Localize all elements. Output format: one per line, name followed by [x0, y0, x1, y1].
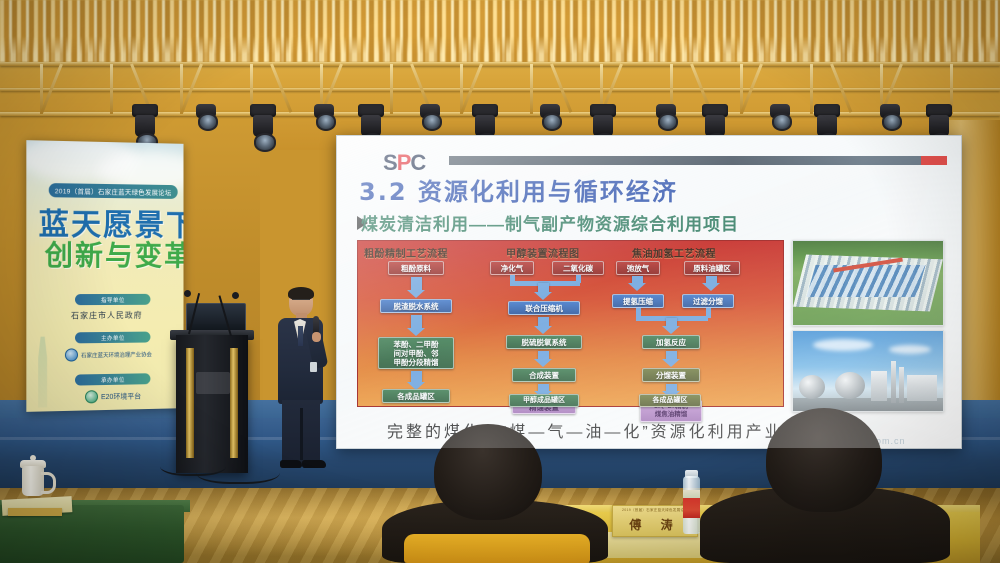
name-card-name: 傅 涛 [629, 516, 680, 533]
microphone-head [184, 290, 191, 297]
banner-pill-label: 主办单位 [75, 332, 150, 344]
flow-node: 二氧化碳 [552, 261, 604, 275]
speaker-hand [312, 332, 321, 342]
stage-cable [196, 456, 280, 484]
speaker-glasses [292, 299, 310, 304]
conference-stage-photo: SPC 3.2 资源化利用与循环经济 煤炭清洁利用——制气副产物资源综合利用项目… [0, 0, 1000, 563]
flow-node: 分馏装置 [642, 368, 700, 382]
flow-node: 脱渣脱水系统 [380, 299, 452, 313]
association-logo-icon [65, 348, 78, 361]
process-flow-panel: 粗酚精制工艺流程 粗酚原料 脱渣脱水系统 苯酚、二甲酚 间对甲酚、邻 甲酚分段精… [357, 240, 784, 407]
speaker-shoe [302, 460, 326, 468]
stage-light [540, 104, 560, 130]
speaker-badge [310, 362, 317, 372]
stage-light [314, 104, 334, 130]
slide-subtitle: 煤炭清洁利用——制气副产物资源综合利用项目 [361, 210, 739, 235]
teacup-handle [41, 472, 56, 494]
banner-org-name: 石家庄市人民政府 [71, 310, 143, 321]
flow-column-title: 焦油加氢工艺流程 [632, 245, 716, 260]
flow-node: 净化气 [490, 261, 534, 275]
flow-node: 提氢压缩 [612, 294, 664, 308]
refinery-photo [792, 330, 944, 412]
microphone-head [232, 292, 239, 299]
flow-column-title: 粗酚精制工艺流程 [364, 245, 448, 260]
banner-org-name: 石家庄蓝天环境治理产业协会 [81, 350, 152, 359]
stage-light [248, 104, 278, 150]
flow-column-title: 甲醇装置流程图 [506, 245, 580, 260]
stage-light [656, 104, 676, 130]
e20-logo-icon [85, 390, 98, 403]
stage-light [420, 104, 440, 130]
table-pen [8, 508, 62, 516]
stage-light [770, 104, 790, 130]
banner-headline-2: 创新与变革 [45, 234, 184, 274]
flow-node: 合成装置 [512, 368, 576, 382]
banner-org-name: E20环境平台 [101, 391, 141, 402]
slide-title: 3.2 资源化利用与循环经济 [359, 172, 678, 207]
banner-org-row: E20环境平台 [85, 389, 141, 403]
banner-org-row: 石家庄蓝天环境治理产业协会 [65, 347, 152, 361]
plant-aerial-photo [792, 240, 944, 326]
flow-node: 脱硫脱氧系统 [506, 335, 582, 349]
speaker-tie [298, 326, 303, 346]
speaker-presenter [268, 288, 330, 476]
decor-stand [230, 348, 238, 458]
projection-screen: SPC 3.2 资源化利用与循环经济 煤炭清洁利用——制气副产物资源综合利用项目… [336, 135, 962, 449]
flow-node: 甲醇成品罐区 [509, 394, 579, 407]
stage-light [880, 104, 900, 130]
water-bottle-label [683, 498, 700, 518]
flow-node: 联合压缩机 [508, 301, 580, 315]
speaker-shoe [280, 460, 302, 468]
forum-banner: 2019（首届）石家庄蓝天绿色发展论坛 蓝天愿景下的 创新与变革 指导单位 石家… [26, 140, 183, 412]
flow-node: 粗酚原料 [388, 261, 444, 275]
banner-pill-label: 承办单位 [75, 373, 150, 385]
flow-node: 原料油罐区 [684, 261, 740, 275]
banner-pill-label: 指导单位 [75, 294, 150, 305]
header-bar-accent [921, 156, 947, 165]
flow-node: 各成品罐区 [639, 394, 701, 407]
ceiling-drape [0, 0, 1000, 62]
chair-back [404, 534, 590, 563]
flow-node: 苯酚、二甲酚 间对甲酚、邻 甲酚分段精馏 [378, 337, 454, 369]
decor-stand [186, 348, 194, 458]
stage-light [196, 104, 216, 130]
flow-node: 加氢反应 [642, 335, 700, 349]
banner-year-line: 2019（首届）石家庄蓝天绿色发展论坛 [49, 183, 178, 199]
flow-node: 过滤分馏 [682, 294, 734, 308]
flow-node: 各成品罐区 [382, 389, 450, 403]
header-bar [449, 156, 921, 165]
banner-tower-graphic [32, 337, 52, 408]
podium-crest [196, 372, 230, 394]
flow-node: 弛放气 [616, 261, 660, 275]
